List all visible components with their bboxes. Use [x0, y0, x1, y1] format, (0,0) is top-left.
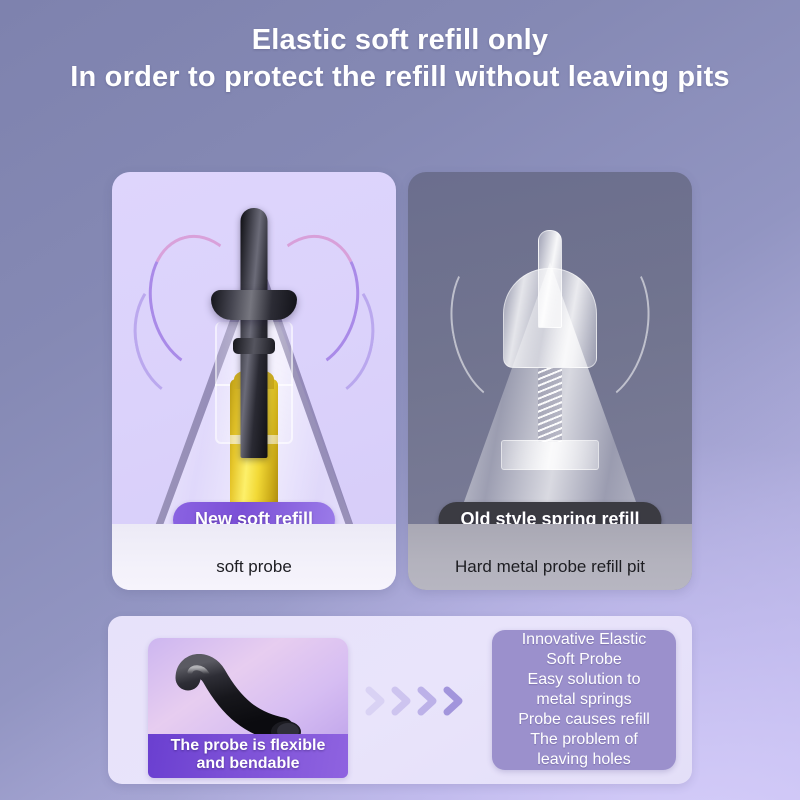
info-line: Innovative Elastic	[522, 630, 647, 650]
chevron-right-icon-3	[416, 684, 440, 718]
old-refill-illustration	[408, 172, 692, 524]
headline-line-1: Elastic soft refill only	[0, 22, 800, 59]
caption-soft-probe: soft probe	[112, 557, 396, 577]
card-new-soft-refill: New soft refill soft probe	[112, 172, 396, 590]
page-title: Elastic soft refill only In order to pro…	[0, 22, 800, 96]
refill-collar-old	[501, 440, 599, 470]
info-line: Soft Probe	[546, 650, 622, 670]
hard-metal-probe-tip	[538, 230, 562, 328]
caption-hard-metal-probe: Hard metal probe refill pit	[408, 557, 692, 577]
info-line: Easy solution to	[528, 670, 641, 690]
info-line: Probe causes refill	[518, 710, 650, 730]
card-left-footer: soft probe	[112, 524, 396, 590]
metal-spring-coil	[538, 368, 562, 442]
probe-ring	[233, 338, 275, 354]
chevron-right-icon-4	[442, 684, 466, 718]
chevron-right-icon-1	[364, 684, 388, 718]
card-right-footer: Hard metal probe refill pit	[408, 524, 692, 590]
benefits-info-box: Innovative Elastic Soft Probe Easy solut…	[492, 630, 676, 770]
chevron-right-icon-2	[390, 684, 414, 718]
headline-line-2: In order to protect the refill without l…	[0, 59, 800, 96]
banner-line-2: and bendable	[148, 755, 348, 773]
flexible-probe-banner: The probe is flexible and bendable	[148, 734, 348, 778]
info-line: The problem of	[530, 730, 638, 750]
arrow-chevrons	[364, 680, 474, 722]
bottom-feature-panel: The probe is flexible and bendable Innov…	[108, 616, 692, 784]
probe-collar	[211, 290, 297, 320]
product-infographic: Elastic soft refill only In order to pro…	[0, 0, 800, 800]
flexible-probe-thumbnail: The probe is flexible and bendable	[148, 638, 348, 778]
new-refill-illustration	[112, 172, 396, 524]
info-line: leaving holes	[537, 750, 630, 770]
info-line: metal springs	[536, 690, 631, 710]
card-old-spring-refill: Old style spring refill Hard metal probe…	[408, 172, 692, 590]
black-soft-probe	[241, 208, 268, 458]
banner-line-1: The probe is flexible	[148, 737, 348, 755]
